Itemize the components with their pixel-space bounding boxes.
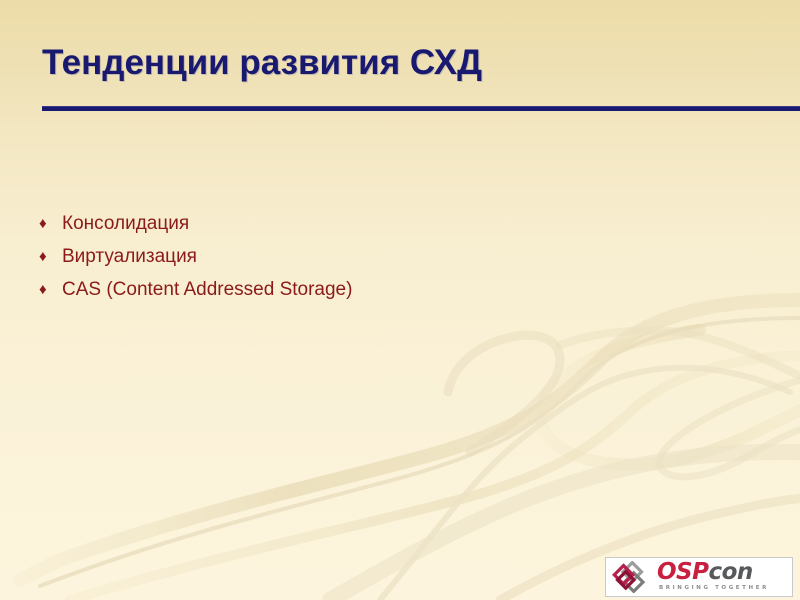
diamond-bullet-icon: ♦	[36, 211, 62, 237]
diamond-bullet-icon: ♦	[36, 244, 62, 270]
presentation-slide: Тенденции развития СХД ♦ Консолидация ♦ …	[0, 0, 800, 600]
list-item-label: Виртуализация	[62, 244, 736, 270]
logo-text-wrap: OSPcon BRINGING TOGETHER	[657, 561, 792, 592]
title-block: Тенденции развития СХД	[42, 44, 800, 82]
list-item: ♦ Консолидация	[36, 211, 736, 244]
list-item: ♦ CAS (Content Addressed Storage)	[36, 277, 736, 310]
list-item-label: Консолидация	[62, 211, 736, 237]
diamond-bullet-icon: ♦	[36, 277, 62, 303]
logo-word-con: con	[708, 559, 752, 585]
list-item: ♦ Виртуализация	[36, 244, 736, 277]
logo-tagline: BRINGING TOGETHER	[657, 584, 792, 592]
page-title: Тенденции развития СХД	[42, 44, 800, 82]
bullet-list: ♦ Консолидация ♦ Виртуализация ♦ CAS (Co…	[36, 211, 736, 310]
title-divider-rule	[42, 106, 800, 111]
logo-wordmark: OSPcon	[657, 559, 753, 585]
logo-word-osp: OSP	[657, 559, 708, 585]
list-item-label: CAS (Content Addressed Storage)	[62, 277, 736, 303]
interlocking-squares-logo-icon	[611, 561, 655, 593]
ospcon-logo: OSPcon BRINGING TOGETHER	[605, 557, 793, 597]
